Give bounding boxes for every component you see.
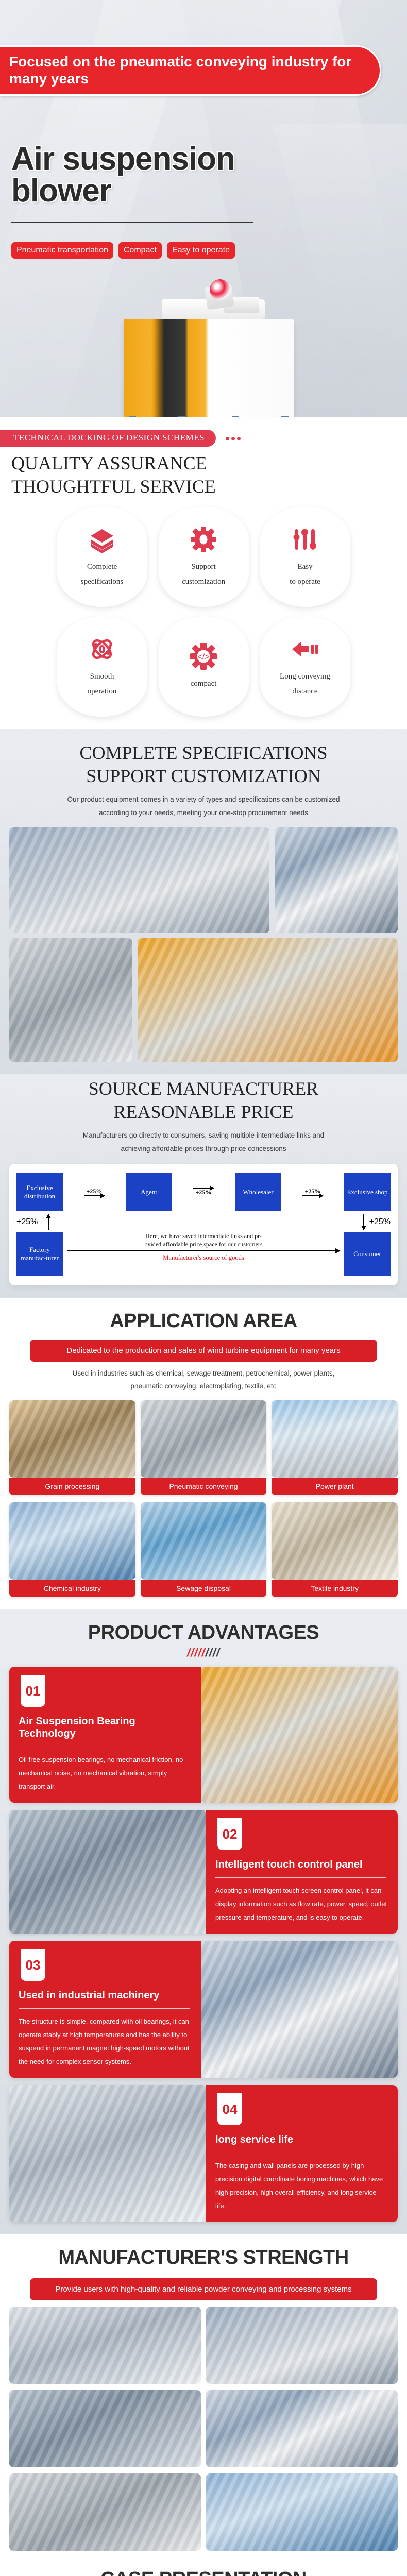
application-card-label: Sewage disposal [141, 1580, 267, 1597]
feature-card-complete-specifications[interactable]: Complete specifications [57, 506, 147, 607]
product-badge-icon [210, 279, 230, 300]
application-card-image [272, 1400, 398, 1478]
feature-label: Complete specifications [81, 560, 123, 589]
chain-arrow-up-group: +25% [16, 1214, 49, 1230]
advantage-image [9, 1810, 206, 1934]
application-section: APPLICATION AREA Dedicated to the produc… [0, 1298, 407, 1610]
advantage-card-04: 04 long service life The casing and wall… [9, 2085, 398, 2222]
advantage-number-badge: 03 [21, 1949, 45, 1981]
feature-label: compact [191, 676, 217, 691]
strength-gallery-row-3 [9, 2473, 398, 2551]
application-card-image [141, 1502, 267, 1580]
application-card-label: Chemical industry [9, 1580, 135, 1597]
advantage-body: The structure is simple, compared with o… [19, 2015, 192, 2069]
advantage-text-panel: 01 Air Suspension Bearing Technology Oil… [9, 1667, 201, 1803]
price-section: SOURCE MANUFACTURER REASONABLE PRICE Man… [0, 1074, 407, 1297]
arrow-right-icon [302, 1195, 323, 1196]
advantage-number-badge: 02 [217, 1818, 242, 1850]
svg-text:</>: </> [197, 653, 209, 662]
application-card-image [272, 1502, 398, 1580]
chain-note: Here, we have saved intermediate links a… [63, 1232, 344, 1276]
application-card-label: Pneumatic conveying [141, 1478, 267, 1495]
specifications-description: Our product equipment comes in a variety… [23, 793, 384, 819]
advantage-body: Adopting an intelligent touch screen con… [215, 1884, 388, 1924]
specifications-gallery-row-2 [9, 938, 398, 1062]
advantage-heading: long service life [215, 2133, 388, 2146]
specifications-gallery-row-1 [9, 827, 398, 933]
advantage-image [201, 1941, 398, 2078]
feature-label: Easy to operate [290, 560, 320, 589]
advantage-card-01: 01 Air Suspension Bearing Technology Oil… [9, 1667, 398, 1803]
advantage-text-panel: 04 long service life The casing and wall… [206, 2085, 398, 2222]
feature-label-line-1: Complete [81, 560, 123, 574]
strength-gallery-row-1 [9, 2307, 398, 2384]
gallery-image-workshop-1 [9, 827, 269, 933]
chain-pct-5: +25% [369, 1217, 391, 1227]
price-title-line-1: SOURCE MANUFACTURER [9, 1077, 398, 1100]
product-cabinet [124, 319, 294, 417]
slashes-decoration-icon: ///////// [9, 1646, 398, 1659]
application-card-row-1: Grain processing Pneumatic conveying Pow… [9, 1400, 398, 1495]
feature-label-line-2: specifications [81, 574, 123, 589]
advantage-divider [19, 1747, 190, 1747]
quality-title-line-1: QUALITY ASSURANCE [11, 452, 398, 475]
code-gear-icon: </> [190, 641, 217, 671]
atom-icon [88, 634, 116, 664]
strength-image-2 [206, 2307, 398, 2384]
arrow-right-icon [84, 1195, 105, 1196]
advantage-card-03: 03 Used in industrial machinery The stru… [9, 1941, 398, 2078]
price-title: SOURCE MANUFACTURER REASONABLE PRICE [9, 1077, 398, 1124]
advantage-divider [19, 2008, 190, 2009]
application-card-grain-processing[interactable]: Grain processing [9, 1400, 135, 1495]
feature-label-line-1: Long conveying [280, 669, 330, 684]
feature-label-line-2: to operate [290, 574, 320, 589]
advantage-image [9, 2085, 206, 2222]
hero-tag-pneumatic[interactable]: Pneumatic transportation [11, 242, 113, 259]
chain-node-wholesaler: Wholesaler [235, 1173, 281, 1211]
quality-feature-row-2: Smooth operation [9, 616, 398, 717]
price-desc-line-1: Manufacturers go directly to consumers, … [83, 1131, 324, 1139]
advantage-divider [215, 1877, 386, 1878]
feature-label: Support customization [182, 560, 225, 589]
quality-eyebrow-row: TECHNICAL DOCKING OF DESIGN SCHEMES [9, 430, 398, 447]
strength-banner: Provide users with high-quality and reli… [30, 2278, 377, 2300]
advantage-heading: Air Suspension Bearing Technology [19, 1715, 192, 1740]
price-desc-line-2: achieving affordable prices through pric… [121, 1145, 286, 1153]
advantage-heading: Used in industrial machinery [19, 1989, 192, 2002]
feature-label-line-1: Easy [290, 560, 320, 574]
application-title: APPLICATION AREA [9, 1310, 398, 1332]
chain-arrow-down-group: +25% [363, 1214, 391, 1230]
strength-title: MANUFACTURER'S STRENGTH [9, 2247, 398, 2269]
advantage-text-panel: 02 Intelligent touch control panel Adopt… [206, 1810, 398, 1934]
price-chain-mid-row: +25% +25% [16, 1214, 391, 1232]
strength-image-1 [9, 2307, 201, 2384]
quality-title: QUALITY ASSURANCE THOUGHTFUL SERVICE [11, 452, 398, 498]
chain-node-exclusive-shop: Exclusive shop [344, 1173, 391, 1211]
feature-label-line-1: Support [182, 560, 225, 574]
strength-image-4 [206, 2390, 398, 2467]
specifications-title-line-2: SUPPORT CUSTOMIZATION [9, 765, 398, 788]
chain-node-consumer: Consumer [344, 1232, 391, 1276]
feature-label-line-2: operation [88, 684, 117, 699]
landing-page: Focused on the pneumatic conveying indus… [0, 0, 407, 2576]
specifications-title: COMPLETE SPECIFICATIONS SUPPORT CUSTOMIZ… [9, 741, 398, 788]
chain-pct-4: +25% [16, 1217, 38, 1227]
feature-label: Long conveying distance [280, 669, 330, 699]
application-card-label: Power plant [272, 1478, 398, 1495]
application-desc-line-1: Used in industries such as chemical, sew… [73, 1369, 335, 1377]
hero-title-line-1: Air suspension [11, 143, 235, 175]
quality-title-line-2: THOUGHTFUL SERVICE [11, 475, 398, 498]
gallery-image-workshop-4 [138, 938, 398, 1062]
feature-label-line-1: Smooth [88, 669, 117, 684]
advantage-number-badge: 04 [217, 2093, 242, 2125]
specifications-desc-line-1: Our product equipment comes in a variety… [67, 795, 340, 803]
hero-tag-compact[interactable]: Compact [118, 242, 162, 259]
price-description: Manufacturers go directly to consumers, … [23, 1129, 384, 1155]
arrow-right-icon [193, 1188, 214, 1189]
specifications-desc-line-2: according to your needs, meeting your on… [99, 809, 308, 817]
gallery-image-workshop-3 [9, 938, 132, 1062]
feature-card-compact[interactable]: </> compact [159, 616, 249, 717]
gallery-image-workshop-2 [275, 827, 398, 933]
cases-title: CASE PRESENTATION [9, 2568, 398, 2576]
application-card-image [141, 1400, 267, 1478]
advantage-text-panel: 03 Used in industrial machinery The stru… [9, 1941, 201, 2078]
feature-label-line-2: customization [182, 574, 225, 589]
strength-image-5 [9, 2473, 201, 2551]
application-card-label: Grain processing [9, 1478, 135, 1495]
price-chain-diagram: Exclusive distribution +25% Agent +25% W… [9, 1164, 398, 1285]
application-card-power-plant[interactable]: Power plant [272, 1400, 398, 1495]
hero-section: Focused on the pneumatic conveying indus… [0, 0, 407, 417]
chain-node-factory-manufacturer: Factory manufac-turer [16, 1232, 63, 1276]
application-card-image [9, 1502, 135, 1580]
arrow-right-long-icon [67, 1250, 340, 1251]
hero-title-line-2: blower [11, 175, 235, 207]
quality-feature-row-1: Complete specifications [9, 506, 398, 607]
product-feet [129, 416, 289, 417]
feature-card-long-conveying-distance[interactable]: Long conveying distance [260, 616, 350, 717]
advantage-card-02: 02 Intelligent touch control panel Adopt… [9, 1810, 398, 1934]
feature-label-line-2: distance [280, 684, 330, 699]
strength-gallery-row-2 [9, 2390, 398, 2467]
quality-assurance-section: TECHNICAL DOCKING OF DESIGN SCHEMES QUAL… [0, 417, 407, 729]
hero-tag-easy-operate[interactable]: Easy to operate [167, 242, 235, 259]
hero-banner: Focused on the pneumatic conveying indus… [0, 45, 381, 96]
quality-eyebrow: TECHNICAL DOCKING OF DESIGN SCHEMES [0, 430, 216, 447]
advantage-number-badge: 01 [21, 1675, 45, 1707]
layers-icon [89, 524, 115, 554]
chain-arrow-2: +25% [188, 1188, 219, 1196]
specifications-section: COMPLETE SPECIFICATIONS SUPPORT CUSTOMIZ… [0, 729, 407, 1074]
advantage-body: The casing and wall panels are processed… [215, 2159, 388, 2213]
feature-label-line-1: compact [191, 676, 217, 691]
hero-divider [11, 222, 253, 223]
advantage-heading: Intelligent touch control panel [215, 1858, 388, 1871]
chain-note-line-1: Here, we have saved intermediate links a… [67, 1232, 340, 1240]
chain-pct-2: +25% [196, 1189, 212, 1196]
feature-label: Smooth operation [88, 669, 117, 699]
price-title-line-2: REASONABLE PRICE [9, 1100, 398, 1124]
advantages-title: PRODUCT ADVANTAGES [9, 1622, 398, 1644]
chain-note-line-2: ovided affordable price space for our cu… [67, 1240, 340, 1248]
specifications-title-line-1: COMPLETE SPECIFICATIONS [9, 741, 398, 765]
advantage-image [201, 1667, 398, 1803]
application-card-label: Textile industry [272, 1580, 398, 1597]
price-chain-bottom-row: Factory manufac-turer Here, we have save… [16, 1232, 391, 1276]
application-desc-line-2: pneumatic conveying, electroplating, tex… [131, 1382, 277, 1390]
slashes-black: //// [206, 1646, 220, 1659]
application-card-chemical-industry[interactable]: Chemical industry [9, 1502, 135, 1597]
advantages-section: PRODUCT ADVANTAGES ///////// 01 Air Susp… [0, 1609, 407, 2234]
feature-card-easy-to-operate[interactable]: Easy to operate [260, 506, 350, 607]
hero-product-photo [70, 289, 337, 417]
sliders-icon [292, 524, 318, 554]
chain-note-highlight: Manufacturer's source of goods [67, 1253, 340, 1262]
application-card-image [9, 1400, 135, 1478]
dots-decoration [224, 434, 241, 443]
chain-node-agent: Agent [126, 1173, 172, 1211]
advantage-divider [215, 2153, 386, 2153]
cases-section: CASE PRESENTATION High operation/high pr… [0, 2563, 407, 2576]
slashes-red: ///// [187, 1646, 206, 1659]
feature-card-smooth-operation[interactable]: Smooth operation [57, 616, 147, 717]
price-chain-top-row: Exclusive distribution +25% Agent +25% W… [16, 1173, 391, 1211]
chain-node-exclusive-distribution: Exclusive distribution [16, 1173, 63, 1211]
application-card-textile-industry[interactable]: Textile industry [272, 1502, 398, 1597]
feature-card-support-customization[interactable]: Support customization [159, 506, 249, 607]
arrow-down-icon [363, 1214, 364, 1230]
arrow-up-icon [48, 1214, 49, 1230]
hero-tag-list: Pneumatic transportation Compact Easy to… [11, 242, 235, 259]
application-card-pneumatic-conveying[interactable]: Pneumatic conveying [141, 1400, 267, 1495]
strength-section: MANUFACTURER'S STRENGTH Provide users wi… [0, 2234, 407, 2563]
hero-title: Air suspension blower [11, 143, 235, 207]
application-card-sewage-disposal[interactable]: Sewage disposal [141, 1502, 267, 1597]
arrow-left-icon [291, 634, 319, 664]
chain-pct-1: +25% [87, 1188, 103, 1195]
application-card-row-2: Chemical industry Sewage disposal Textil… [9, 1502, 398, 1597]
advantage-body: Oil free suspension bearings, no mechani… [19, 1753, 192, 1793]
strength-image-3 [9, 2390, 201, 2467]
gear-icon [190, 524, 217, 554]
application-description: Used in industries such as chemical, sew… [23, 1367, 384, 1393]
chain-pct-3: +25% [305, 1188, 321, 1195]
chain-arrow-1: +25% [79, 1188, 110, 1196]
strength-image-6 [206, 2473, 398, 2551]
application-banner: Dedicated to the production and sales of… [30, 1340, 377, 1362]
chain-arrow-3: +25% [297, 1188, 328, 1196]
